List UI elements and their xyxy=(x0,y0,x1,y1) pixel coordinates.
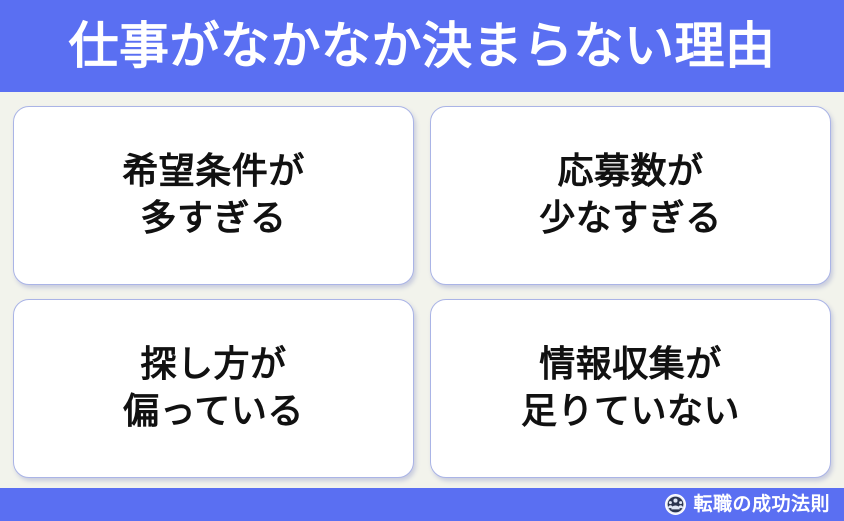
reason-card-line-1: 探し方が xyxy=(140,342,286,388)
reason-card-line-2: 多すぎる xyxy=(140,196,286,242)
footer-band: 転職の成功法則 xyxy=(0,488,844,521)
brand-lockup: 転職の成功法則 xyxy=(665,494,830,515)
reason-card-line-1: 応募数が xyxy=(557,149,703,195)
reason-card-application-count: 応募数が 少なすぎる xyxy=(430,106,831,285)
infographic-root: 仕事がなかなか決まらない理由 希望条件が 多すぎる 応募数が 少なすぎる 探し方… xyxy=(0,0,844,521)
page-title: 仕事がなかなか決まらない理由 xyxy=(69,21,776,71)
reason-card-line-2: 少なすぎる xyxy=(539,196,722,242)
header-band: 仕事がなかなか決まらない理由 xyxy=(0,0,844,92)
reason-card-information-gathering: 情報収集が 足りていない xyxy=(430,299,831,478)
reason-card-line-1: 希望条件が xyxy=(122,149,305,195)
reason-card-desired-conditions: 希望条件が 多すぎる xyxy=(13,106,414,285)
people-circle-badge-icon xyxy=(665,494,686,515)
reason-card-line-1: 情報収集が xyxy=(539,342,722,388)
reason-card-line-2: 偏っている xyxy=(123,389,304,435)
reason-card-search-method: 探し方が 偏っている xyxy=(13,299,414,478)
reason-card-line-2: 足りていない xyxy=(521,389,740,435)
reason-card-grid: 希望条件が 多すぎる 応募数が 少なすぎる 探し方が 偏っている 情報収集が 足… xyxy=(0,92,844,488)
brand-name-label: 転職の成功法則 xyxy=(693,495,830,514)
